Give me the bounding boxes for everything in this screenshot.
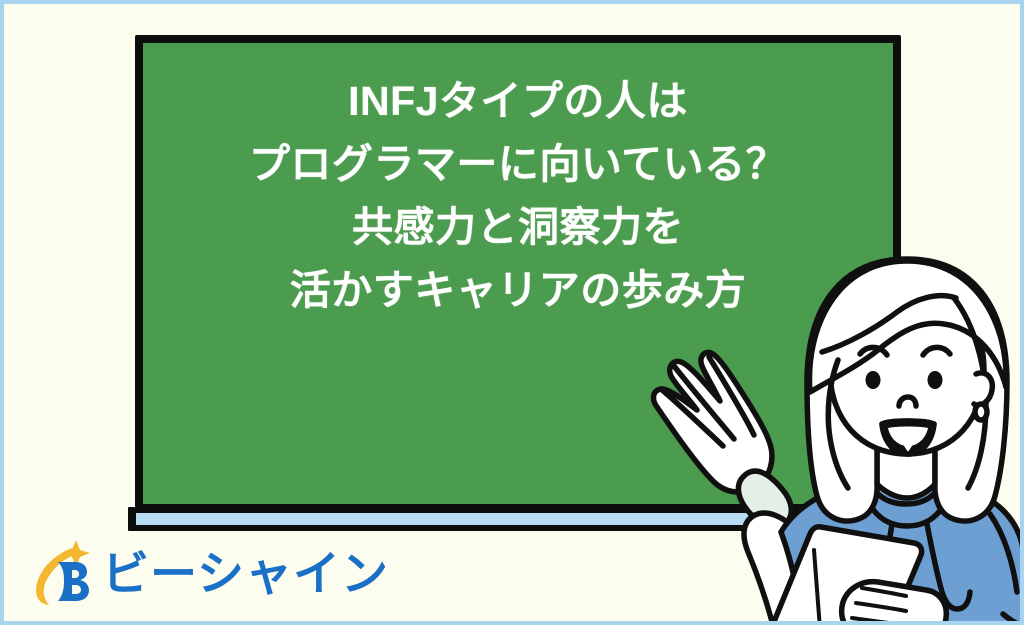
b-shine-comet-star-icon xyxy=(32,540,94,606)
woman-illustration xyxy=(624,232,1024,625)
brand-name: ビーシャイン xyxy=(102,550,389,597)
brand-logo[interactable]: ビーシャイン xyxy=(32,538,389,608)
slide-canvas: INFJタイプの人は プログラマーに向いている？ 共感力と洞察力を 活かすキャリ… xyxy=(0,0,1024,625)
